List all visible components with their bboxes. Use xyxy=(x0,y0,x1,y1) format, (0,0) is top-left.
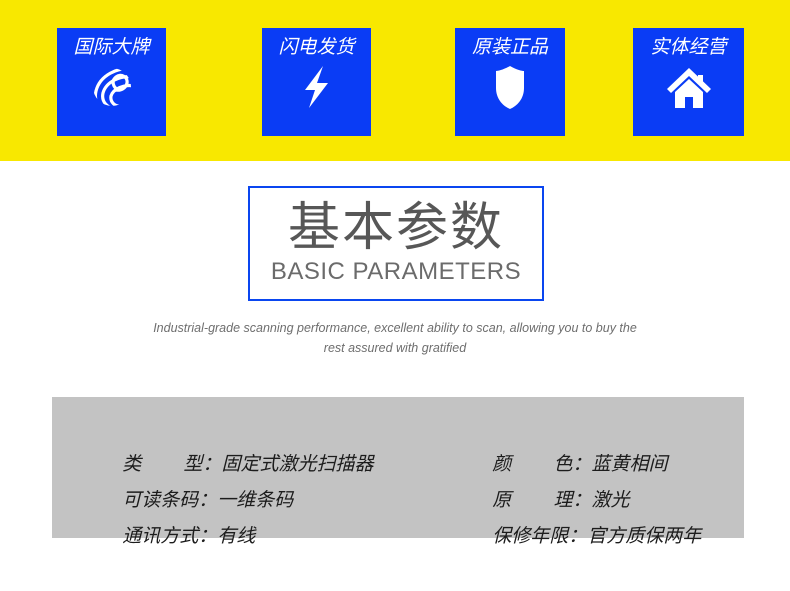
shield-icon xyxy=(486,63,534,111)
globe-icon xyxy=(88,63,136,111)
page-title-en: BASIC PARAMETERS xyxy=(271,258,521,286)
param-separator: ： xyxy=(198,519,217,555)
badge-label: 国际大牌 xyxy=(73,37,149,59)
param-separator: ： xyxy=(568,519,587,555)
page-title-box: 基本参数 BASIC PARAMETERS xyxy=(248,186,544,301)
badge-label: 原装正品 xyxy=(472,37,548,59)
page-subtitle: Industrial-grade scanning performance, e… xyxy=(145,318,645,358)
badge-label: 闪电发货 xyxy=(278,37,354,59)
badge-authentic-product[interactable]: 原装正品 xyxy=(455,28,565,136)
badge-fast-shipping[interactable]: 闪电发货 xyxy=(262,28,371,136)
table-row: 可读条码：一维条码 原 理：激光 xyxy=(52,447,744,483)
badge-international-brand[interactable]: 国际大牌 xyxy=(57,28,166,136)
badge-physical-store[interactable]: 实体经营 xyxy=(633,28,744,136)
parameters-grid: 类 型：固定式激光扫描器 颜 色：蓝黄相间 可读条码：一维条码 原 理：激光 通… xyxy=(52,411,744,538)
param-value: 官方质保两年 xyxy=(587,519,701,555)
param-label: 通讯方式 xyxy=(122,519,198,555)
param-label: 保修年限 xyxy=(492,519,568,555)
lightning-bolt-icon xyxy=(293,63,341,111)
feature-banner: 国际大牌 闪电发货 xyxy=(0,0,790,161)
badge-list: 国际大牌 闪电发货 xyxy=(0,28,790,136)
table-row: 类 型：固定式激光扫描器 颜 色：蓝黄相间 xyxy=(52,411,744,447)
table-row: 通讯方式：有线 保修年限：官方质保两年 xyxy=(52,483,744,519)
param-communication: 通讯方式：有线 xyxy=(80,483,255,591)
parameters-panel: 类 型：固定式激光扫描器 颜 色：蓝黄相间 可读条码：一维条码 原 理：激光 通… xyxy=(52,397,744,538)
param-warranty: 保修年限：官方质保两年 xyxy=(450,483,701,591)
badge-label: 实体经营 xyxy=(650,37,726,59)
house-icon xyxy=(665,63,713,111)
param-value: 有线 xyxy=(217,519,255,555)
page-title-cn: 基本参数 xyxy=(288,200,504,256)
